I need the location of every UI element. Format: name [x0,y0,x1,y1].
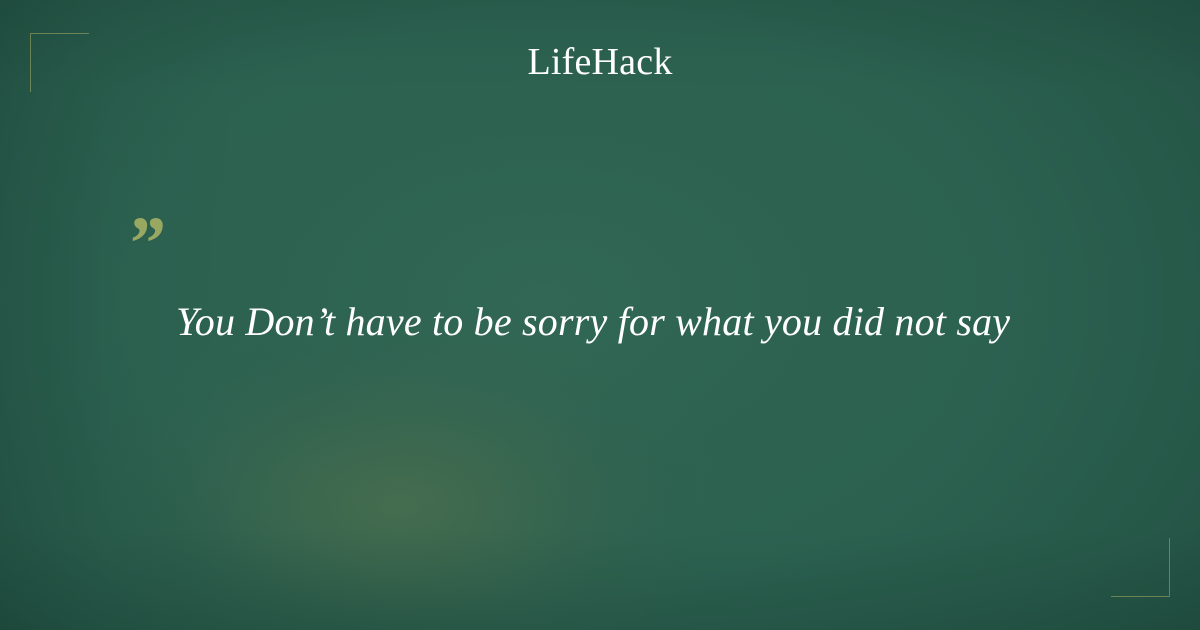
quotation-mark-icon: ” [126,206,162,282]
quote-text: You Don’t have to be sorry for what you … [176,296,1056,348]
brand-logo: LifeHack [0,40,1200,84]
quote-card: LifeHack ” You Don’t have to be sorry fo… [0,0,1200,630]
corner-bracket-bottom-right-icon [1111,538,1170,597]
